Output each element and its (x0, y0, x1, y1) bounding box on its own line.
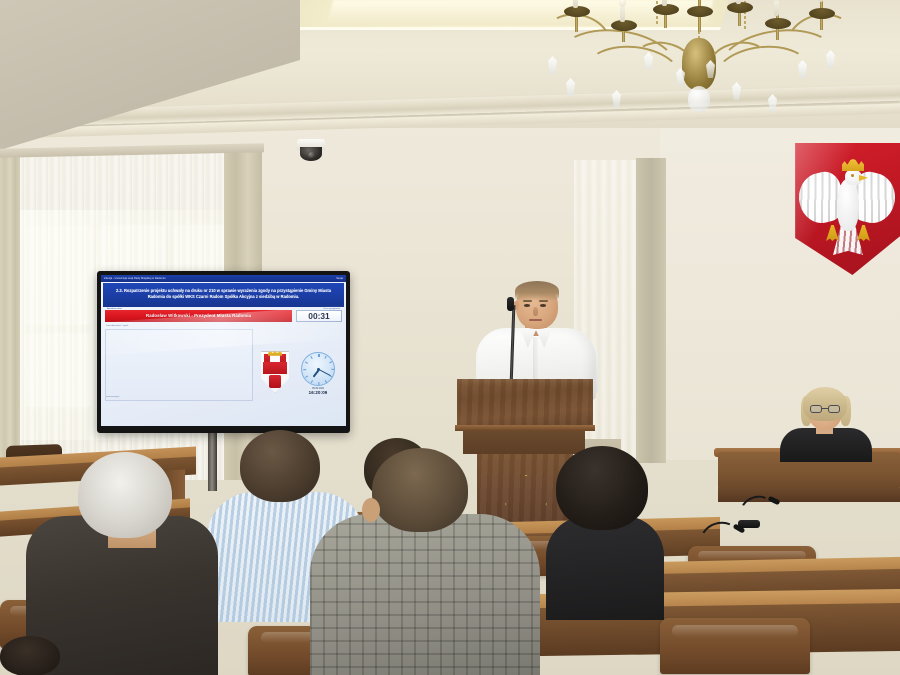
vote-panel-label: Lista obecności / wynik (105, 325, 342, 327)
clock-time: 16:20:09 (298, 390, 338, 395)
screen-footnote: www.esesja.pl (106, 396, 119, 398)
chair-back (660, 618, 810, 674)
council-chamber-photo: eSesja - transmisja sesji Rady Miejskiej… (0, 0, 900, 675)
tv-screen-content: eSesja - transmisja sesji Rady Miejskiej… (101, 275, 346, 426)
dome-camera-icon (297, 139, 325, 163)
radom-city-arms-icon (260, 351, 290, 393)
polish-coat-of-arms-icon (793, 143, 900, 275)
screen-header-bar: eSesja - transmisja sesji Rady Miejskiej… (101, 275, 346, 282)
presentation-screen[interactable]: eSesja - transmisja sesji Rady Miejskiej… (97, 271, 350, 433)
seated-official-right (780, 388, 872, 460)
screen-clock: 05.09.2022 16:20:09 (298, 352, 338, 395)
curtain-drape-center (636, 158, 666, 463)
analog-clock-icon (301, 352, 335, 386)
screen-header-title: eSesja - transmisja sesji Rady Miejskiej… (104, 277, 166, 280)
screen-header-right: Sesja (336, 277, 343, 280)
screen-body: Lista obecności / wynik (101, 322, 346, 401)
speaker-name-bar: Radosław Witkowski - Prezydent Miasta Ra… (105, 310, 292, 322)
audience-foreground-head (0, 636, 70, 675)
speaker-at-podium (472, 283, 600, 393)
audience-dark-hair (540, 446, 670, 636)
speech-timer: 00:31 (296, 310, 342, 322)
audience-checked-jacket (310, 448, 550, 675)
speaker-row: Radosław Witkowski - Prezydent Miasta Ra… (101, 310, 346, 322)
glasses-icon (810, 405, 840, 413)
chandelier-icon (536, 0, 866, 116)
curtain-drape-left (0, 150, 20, 480)
agenda-item-box: 2.3. Rozpatrzenie projektu uchwały na dr… (103, 283, 344, 307)
tv-bezel: eSesja - transmisja sesji Rady Miejskiej… (97, 271, 350, 433)
vote-panel (105, 329, 253, 401)
